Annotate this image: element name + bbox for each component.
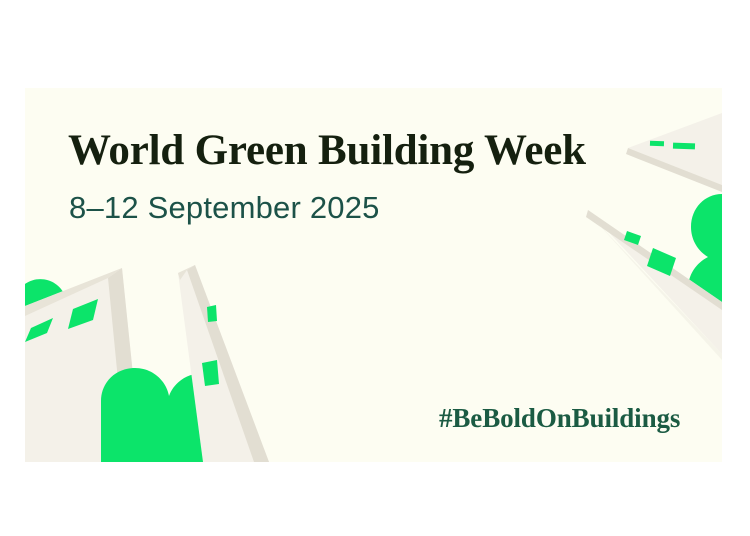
banner-text-layer: World Green Building Week 8–12 September… — [25, 88, 722, 462]
page-root: World Green Building Week 8–12 September… — [0, 0, 750, 536]
banner-date-range: 8–12 September 2025 — [69, 191, 380, 225]
event-banner: World Green Building Week 8–12 September… — [25, 88, 722, 462]
banner-headline: World Green Building Week — [68, 128, 586, 173]
banner-hashtag: #BeBoldOnBuildings — [439, 403, 680, 434]
